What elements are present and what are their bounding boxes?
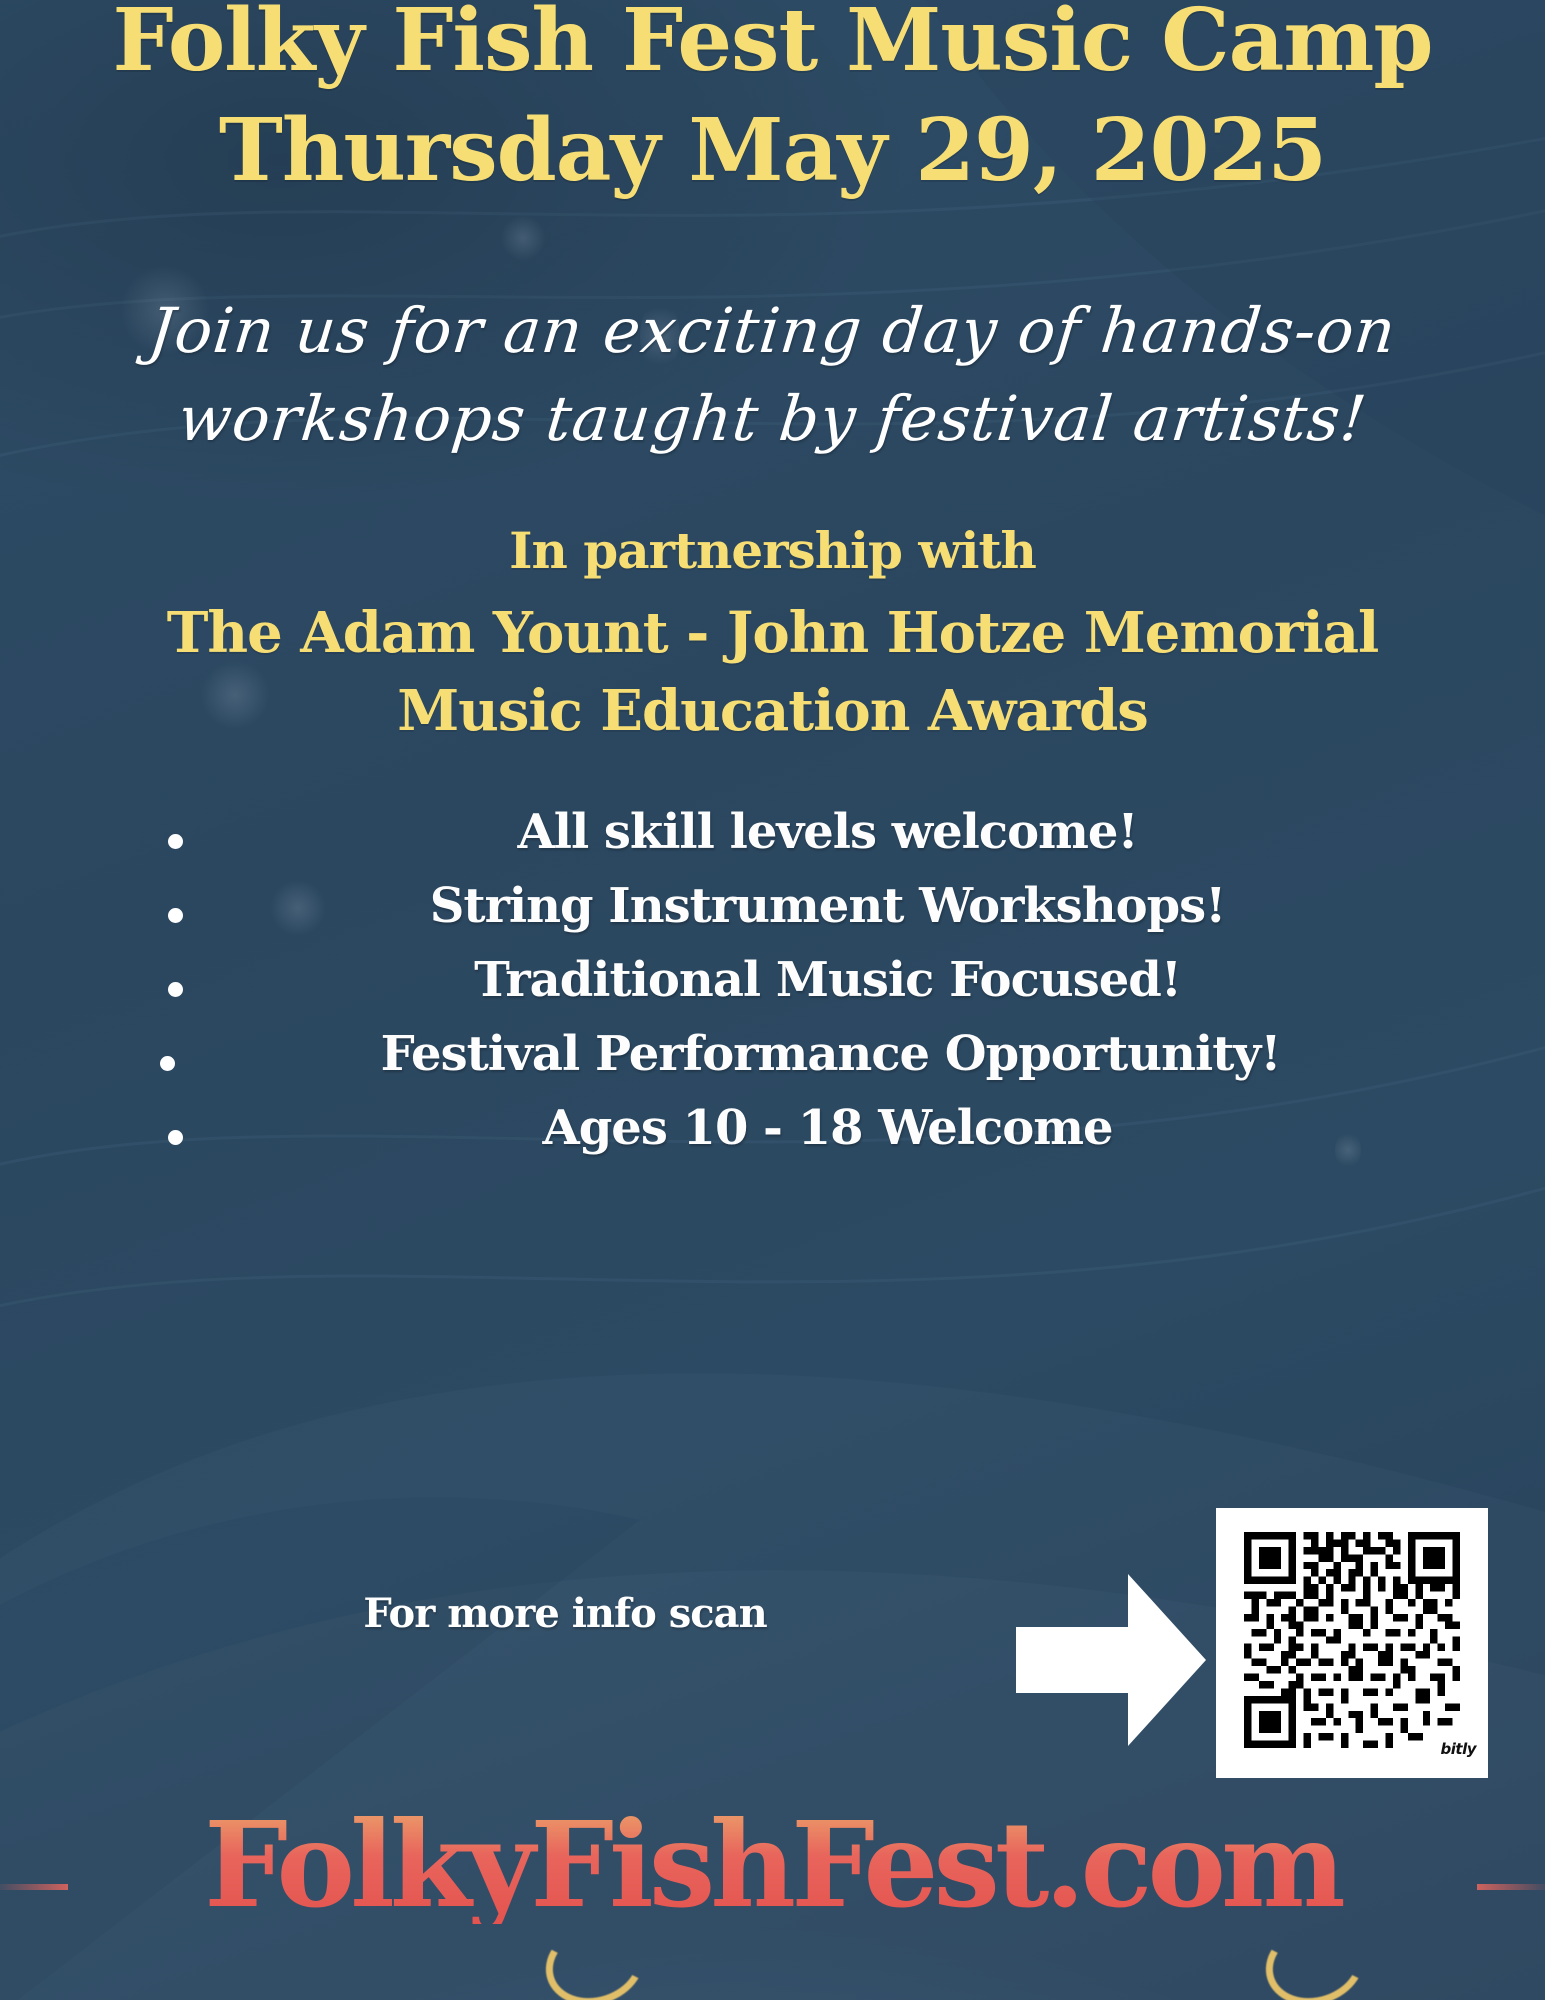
- bullet-dot-icon: [168, 834, 183, 849]
- list-item-label: Festival Performance Opportunity!: [186, 1030, 1475, 1078]
- list-item-label: String Instrument Workshops!: [200, 882, 1455, 930]
- poster-subtitle-line-2: workshops taught by festival artists!: [0, 388, 1545, 450]
- partnership-award-line-2: Music Education Awards: [0, 678, 1545, 744]
- qr-code-icon[interactable]: [1244, 1532, 1460, 1748]
- qr-brand-label: bitly: [1441, 1740, 1476, 1758]
- list-item-label: All skill levels welcome!: [200, 808, 1455, 856]
- list-item: All skill levels welcome!: [0, 800, 1545, 874]
- bullet-dot-icon: [160, 1056, 175, 1071]
- arrow-right-icon: [1016, 1572, 1206, 1748]
- list-item-label: Ages 10 - 18 Welcome: [200, 1104, 1455, 1152]
- footer-logo-text: FolkyFishFest.com: [0, 1806, 1545, 1924]
- list-item: Traditional Music Focused!: [0, 948, 1545, 1022]
- partnership-heading: In partnership with: [0, 521, 1545, 580]
- bullet-dot-icon: [168, 982, 183, 997]
- feature-bullet-list: All skill levels welcome! String Instrum…: [0, 800, 1545, 1170]
- list-item: String Instrument Workshops!: [0, 874, 1545, 948]
- footer-logo: FolkyFishFest.com: [0, 1806, 1545, 2000]
- poster-content: Folky Fish Fest Music Camp Thursday May …: [0, 0, 1545, 2000]
- list-item: Ages 10 - 18 Welcome: [0, 1096, 1545, 1170]
- bullet-dot-icon: [168, 1130, 183, 1145]
- bullet-dot-icon: [168, 908, 183, 923]
- partnership-award-line-1: The Adam Yount - John Hotze Memorial: [0, 600, 1545, 666]
- list-item: Festival Performance Opportunity!: [0, 1022, 1545, 1096]
- poster-subtitle-line-1: Join us for an exciting day of hands-on: [0, 300, 1545, 362]
- scan-instruction-label: For more info scan: [350, 1590, 780, 1637]
- poster-canvas: Folky Fish Fest Music Camp Thursday May …: [0, 0, 1545, 2000]
- poster-title-line-1: Folky Fish Fest Music Camp: [0, 0, 1545, 83]
- qr-code-card[interactable]: bitly: [1216, 1508, 1488, 1778]
- list-item-label: Traditional Music Focused!: [200, 956, 1455, 1004]
- poster-title-line-2: Thursday May 29, 2025: [0, 108, 1545, 193]
